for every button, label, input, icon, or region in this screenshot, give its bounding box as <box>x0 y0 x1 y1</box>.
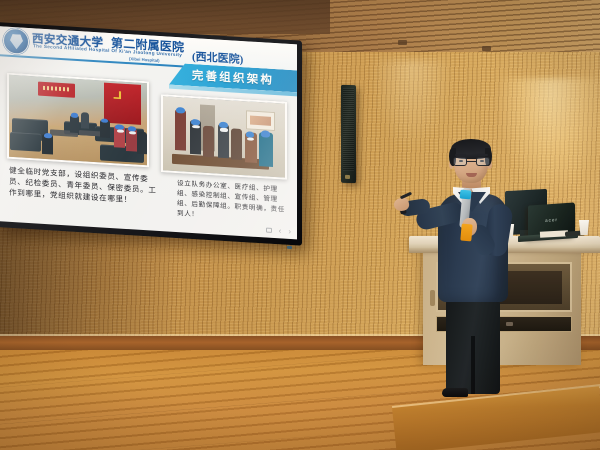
column-speaker <box>341 85 356 183</box>
display-screen[interactable]: 西安交通大学 第二附属医院 (西北医院) The Second Affiliat… <box>0 26 297 239</box>
prev-icon[interactable]: ‹ <box>279 226 282 235</box>
ceiling-vent-icon <box>482 46 491 51</box>
photo-ppe-cap <box>101 118 108 123</box>
institution-name-cn-paren: (西北医院) <box>192 48 243 67</box>
photo-person <box>81 112 89 129</box>
display-onscreen-controls[interactable]: ‹ › <box>266 225 291 236</box>
ceiling-vent-icon <box>398 40 407 45</box>
microphone-body[interactable] <box>460 224 472 242</box>
photo-ppe-cap <box>115 124 123 129</box>
photo-person <box>231 129 242 161</box>
photo-ppe-cap <box>246 131 255 137</box>
photo-person <box>175 109 186 151</box>
presenter-eyebrow <box>455 154 466 156</box>
presenter <box>398 140 548 390</box>
photo-person <box>137 132 147 154</box>
eyeglass-bridge <box>467 161 476 162</box>
photo-scene: 西安交通大学 第二附属医院 (西北医院) The Second Affiliat… <box>0 0 600 450</box>
presenter-leg-separation <box>471 336 475 394</box>
photo-red-banner <box>38 81 75 97</box>
photo-person <box>203 125 214 157</box>
eyeglass-lens-right <box>476 157 490 166</box>
slide-caption-left: 健全临时党支部，设组织委员、宣传委员、纪检委员、青年委员、保密委员。工作到哪里，… <box>9 165 157 207</box>
photo-ppe-cap <box>71 113 78 118</box>
microphone-blue-band <box>460 190 472 200</box>
display-power-led-icon <box>287 246 292 249</box>
photo-ppe-cap <box>261 130 271 137</box>
eyeglass-lens-left <box>453 157 467 166</box>
slide-caption-right: 设立队务办公室、医疗组、护理组、感染控制组、宣传组、管理组、后勤保障组。职责明确… <box>177 179 289 225</box>
photo-ppe-cap <box>176 107 185 113</box>
slide-body: 健全临时党支部，设组织委员、宣传委员、纪检委员、青年委员、保密委员。工作到哪里，… <box>0 58 297 239</box>
photo-wall-picture <box>246 110 275 131</box>
wall-mounted-led-display[interactable]: 西安交通大学 第二附属医院 (西北医院) The Second Affiliat… <box>0 22 302 246</box>
next-icon[interactable]: › <box>288 227 291 236</box>
slide-photo-meeting-hall <box>7 73 149 168</box>
photo-ppe-cap <box>44 133 52 138</box>
photo-party-flag <box>104 83 141 125</box>
speaker-grille <box>343 88 354 171</box>
photo-face-mask <box>117 129 124 133</box>
display-bezel: 西安交通大学 第二附属医院 (西北医院) The Second Affiliat… <box>0 22 302 246</box>
photo-sofa <box>10 132 40 152</box>
university-emblem-icon <box>3 27 29 55</box>
photo-ppe-cap <box>191 119 200 125</box>
stop-icon[interactable] <box>266 227 272 232</box>
slide-photo-office-briefing <box>161 94 287 180</box>
speaker-led-icon <box>345 175 350 179</box>
presenter-eyebrow <box>477 154 488 156</box>
presenter-shoe <box>442 388 468 397</box>
photo-face-mask <box>220 128 227 132</box>
eyeglasses-icon <box>453 157 490 166</box>
